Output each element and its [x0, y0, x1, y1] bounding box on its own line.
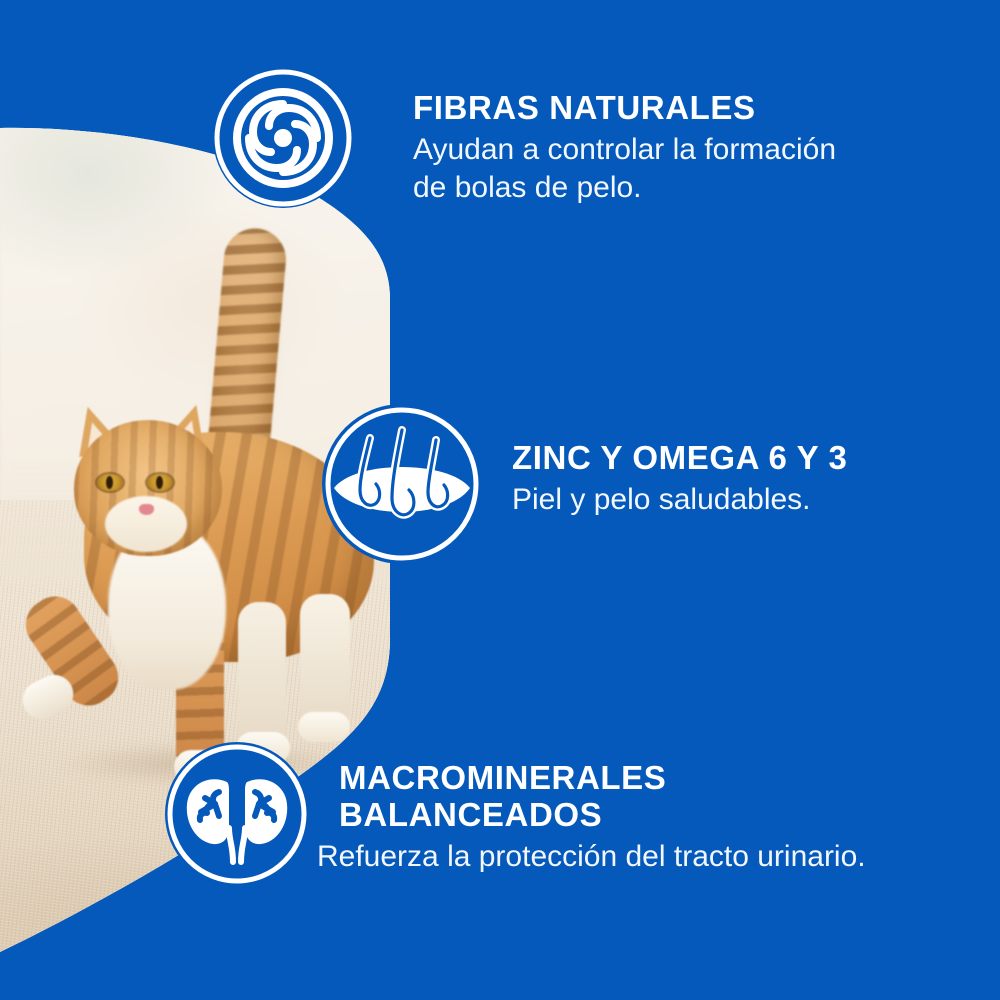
benefit-item-zinc-omega: ZINC Y OMEGA 6 Y 3 Piel y pelo saludable… — [322, 404, 847, 564]
benefit-description: Refuerza la protección del tracto urinar… — [317, 838, 866, 876]
benefit-text-block: ZINC Y OMEGA 6 Y 3 Piel y pelo saludable… — [512, 404, 847, 519]
benefit-description: Ayudan a controlar la formación de bolas… — [413, 131, 836, 207]
benefit-title: ZINC Y OMEGA 6 Y 3 — [512, 440, 847, 477]
infographic-canvas: FIBRAS NATURALES Ayudan a controlar la f… — [0, 0, 1000, 1000]
benefit-item-natural-fibers: FIBRAS NATURALES Ayudan a controlar la f… — [213, 68, 836, 208]
cat-eye-right — [147, 474, 173, 491]
cat-eye-left — [97, 474, 123, 491]
natural-fibers-swirl-icon — [213, 68, 353, 208]
benefit-item-macrominerals: MACROMINERALES BALANCEADOS Refuerza la p… — [165, 742, 866, 886]
benefit-text-block: MACROMINERALES BALANCEADOS Refuerza la p… — [339, 742, 866, 876]
cat-nose — [139, 504, 154, 515]
cat-back-paw-outer — [298, 712, 350, 742]
benefit-description: Piel y pelo saludables. — [512, 481, 847, 519]
benefit-text-block: FIBRAS NATURALES Ayudan a controlar la f… — [413, 68, 836, 207]
benefit-title: MACROMINERALES BALANCEADOS — [339, 760, 866, 834]
cat-back-leg-outer — [300, 594, 350, 730]
kidneys-icon — [165, 742, 309, 886]
cat-back-leg-inner — [238, 602, 286, 752]
benefit-title: FIBRAS NATURALES — [413, 90, 836, 127]
hair-follicle-skin-icon — [322, 404, 482, 564]
